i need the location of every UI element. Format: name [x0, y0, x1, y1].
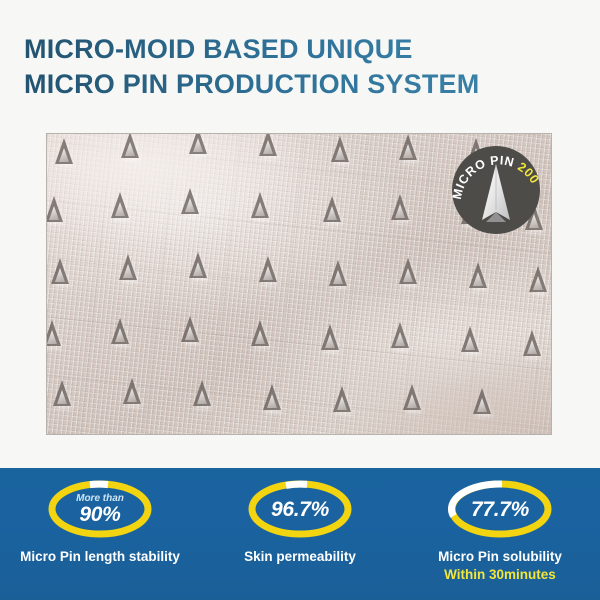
micro-pin: [251, 192, 269, 218]
stat-ring-arc-3: [451, 484, 502, 516]
micro-pin-photo: MICRO PIN 200EA: [46, 133, 552, 435]
micro-pin: [123, 378, 141, 404]
stat-label: Micro Pin length stability: [20, 548, 180, 566]
micro-pin: [189, 133, 207, 154]
stats-panel: More than 90% Micro Pin length stability…: [0, 468, 600, 600]
micro-pin: [529, 266, 547, 292]
micro-pin: [523, 330, 541, 356]
micro-pin: [461, 326, 479, 352]
micro-pin: [46, 196, 63, 222]
micro-pin: [329, 260, 347, 286]
micro-pin: [403, 384, 421, 410]
micro-pin: [321, 324, 339, 350]
micro-pin: [111, 318, 129, 344]
micro-pin: [263, 384, 281, 410]
stat-ring-3: 77.7%: [444, 478, 556, 540]
micro-pin: [333, 386, 351, 412]
micro-pin: [251, 320, 269, 346]
micro-pin: [55, 138, 73, 164]
micro-pin: [259, 256, 277, 282]
micro-pin: [259, 133, 277, 156]
micro-pin: [181, 316, 199, 342]
stat-ring-1: More than 90%: [44, 478, 156, 540]
micro-pin: [111, 192, 129, 218]
stat-ring-arc-2: [286, 484, 307, 485]
stat-skin-permeability: 96.7% Skin permeability: [200, 468, 400, 600]
micro-pin: [53, 380, 71, 406]
micro-pin: [469, 262, 487, 288]
stat-sublabel: Within 30minutes: [444, 566, 556, 584]
micro-pin: [46, 320, 61, 346]
micro-pin: [181, 188, 199, 214]
micro-pin: [399, 134, 417, 160]
stat-label: Skin permeability: [244, 548, 356, 566]
micro-pin: [391, 194, 409, 220]
micro-pin: [331, 136, 349, 162]
stat-label: Micro Pin solubility: [438, 548, 562, 566]
micro-pin: [323, 196, 341, 222]
micro-pin: [189, 252, 207, 278]
stat-micro-pin-length-stability: More than 90% Micro Pin length stability: [0, 468, 200, 600]
stat-ring-2: 96.7%: [244, 478, 356, 540]
micro-pin: [121, 133, 139, 158]
micro-pin-count-badge: MICRO PIN 200EA: [448, 142, 544, 238]
page-title-line-1: MICRO-MOID BASED UNIQUE: [24, 32, 576, 67]
micro-pin: [119, 254, 137, 280]
micro-pin: [399, 258, 417, 284]
micro-pin: [473, 388, 491, 414]
page-title: MICRO-MOID BASED UNIQUE MICRO PIN PRODUC…: [24, 32, 576, 102]
page-title-line-2: MICRO PIN PRODUCTION SYSTEM: [24, 67, 576, 102]
micro-pin: [51, 258, 69, 284]
stat-micro-pin-solubility: 77.7% Micro Pin solubility Within 30minu…: [400, 468, 600, 600]
micro-pin: [193, 380, 211, 406]
micro-pin: [391, 322, 409, 348]
stats-row: More than 90% Micro Pin length stability…: [0, 468, 600, 600]
